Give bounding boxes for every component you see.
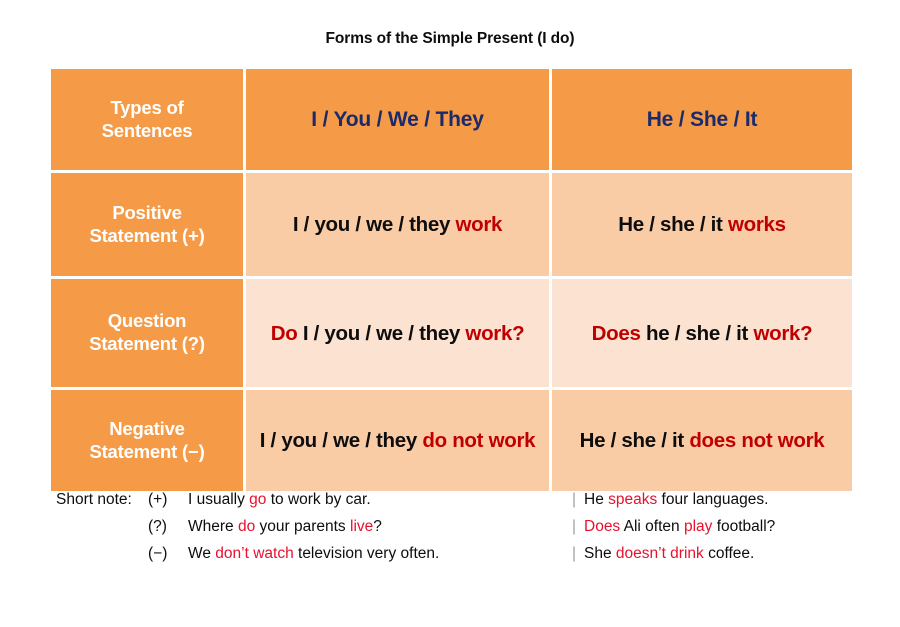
text-highlight: speaks (608, 491, 657, 508)
text-plain: We (188, 545, 215, 562)
header-label-line2: Sentences (102, 120, 193, 141)
short-note-lead-spacer (56, 516, 148, 543)
text-plain: I / you / we / they (297, 322, 465, 345)
short-note-example-plural-negative: We don’t watch television very often. (188, 543, 572, 570)
text-plain: He / she / it (618, 213, 728, 236)
text-highlight: does not work (689, 429, 824, 452)
cell-question-plural: Do I / you / we / they work? (246, 279, 549, 387)
text-highlight: go (249, 491, 266, 508)
short-note-sign-question: (?) (148, 516, 188, 543)
text-plain: I / you / we / they (293, 213, 456, 236)
text-plain: four languages. (657, 491, 768, 508)
short-note-row-positive: Short note: (+) I usually go to work by … (56, 489, 854, 516)
text-highlight: do not work (422, 429, 535, 452)
header-cell-singular-pronouns: He / She / It (552, 69, 852, 170)
short-note-row-negative: (−) We don’t watch television very often… (56, 543, 854, 570)
text-plain: He (584, 491, 608, 508)
text-plain: football? (712, 518, 775, 535)
short-note-example-singular-positive: He speaks four languages. (584, 489, 854, 516)
short-note-table: Short note: (+) I usually go to work by … (56, 489, 854, 570)
short-note-example-plural-question: Where do your parents live? (188, 516, 572, 543)
short-note-example-singular-negative: She doesn’t drink coffee. (584, 543, 854, 570)
text-plain: coffee. (704, 545, 755, 562)
simple-present-forms-table: Types of Sentences I / You / We / They H… (48, 66, 855, 494)
text-plain: your parents (255, 518, 350, 535)
text-plain: ? (373, 518, 382, 535)
table-row-positive: Positive Statement (+) I / you / we / th… (51, 173, 852, 276)
page-title: Forms of the Simple Present (I do) (0, 30, 900, 48)
text-highlight: Do (271, 322, 298, 345)
text-highlight: work? (753, 322, 812, 345)
short-note-separator: | (572, 516, 584, 543)
text-plain: he / she / it (641, 322, 754, 345)
row-label-positive-line2: Statement (+) (89, 225, 204, 246)
text-highlight: play (684, 518, 712, 535)
text-highlight: work (455, 213, 502, 236)
cell-question-singular: Does he / she / it work? (552, 279, 852, 387)
cell-negative-singular: He / she / it does not work (552, 390, 852, 491)
header-label-line1: Types of (110, 97, 183, 118)
text-plain: television very often. (294, 545, 440, 562)
text-highlight: do (238, 518, 255, 535)
header-cell-plural-pronouns: I / You / We / They (246, 69, 549, 170)
text-highlight: Does (592, 322, 641, 345)
row-label-positive: Positive Statement (+) (51, 173, 243, 276)
text-highlight: doesn’t drink (616, 545, 704, 562)
text-plain: I / you / we / they (260, 429, 423, 452)
short-note-row-question: (?) Where do your parents live? | Does A… (56, 516, 854, 543)
short-note-example-plural-positive: I usually go to work by car. (188, 489, 572, 516)
row-label-negative-line1: Negative (109, 418, 185, 439)
cell-negative-plural: I / you / we / they do not work (246, 390, 549, 491)
text-plain: Where (188, 518, 238, 535)
text-plain: Ali often (620, 518, 684, 535)
short-note-separator: | (572, 489, 584, 516)
table-header-row: Types of Sentences I / You / We / They H… (51, 69, 852, 170)
header-cell-types-of-sentences: Types of Sentences (51, 69, 243, 170)
cell-positive-singular: He / she / it works (552, 173, 852, 276)
text-highlight: Does (584, 518, 620, 535)
row-label-question-line1: Question (108, 310, 187, 331)
cell-positive-plural: I / you / we / they work (246, 173, 549, 276)
text-plain: She (584, 545, 616, 562)
short-note-separator: | (572, 543, 584, 570)
table-row-negative: Negative Statement (−) I / you / we / th… (51, 390, 852, 491)
text-plain: to work by car. (266, 491, 370, 508)
text-highlight: works (728, 213, 786, 236)
text-highlight: live (350, 518, 373, 535)
short-note-example-singular-question: Does Ali often play football? (584, 516, 854, 543)
row-label-negative: Negative Statement (−) (51, 390, 243, 491)
row-label-positive-line1: Positive (112, 202, 181, 223)
short-note-sign-positive: (+) (148, 489, 188, 516)
short-note-lead-spacer (56, 543, 148, 570)
row-label-question-line2: Statement (?) (89, 333, 205, 354)
text-plain: I usually (188, 491, 249, 508)
row-label-negative-line2: Statement (−) (89, 441, 204, 462)
table-row-question: Question Statement (?) Do I / you / we /… (51, 279, 852, 387)
short-note-lead-label: Short note: (56, 489, 148, 516)
text-highlight: don’t watch (215, 545, 293, 562)
row-label-question: Question Statement (?) (51, 279, 243, 387)
text-highlight: work? (465, 322, 524, 345)
short-note-section: Short note: (+) I usually go to work by … (56, 489, 856, 570)
text-plain: He / she / it (580, 429, 690, 452)
short-note-sign-negative: (−) (148, 543, 188, 570)
